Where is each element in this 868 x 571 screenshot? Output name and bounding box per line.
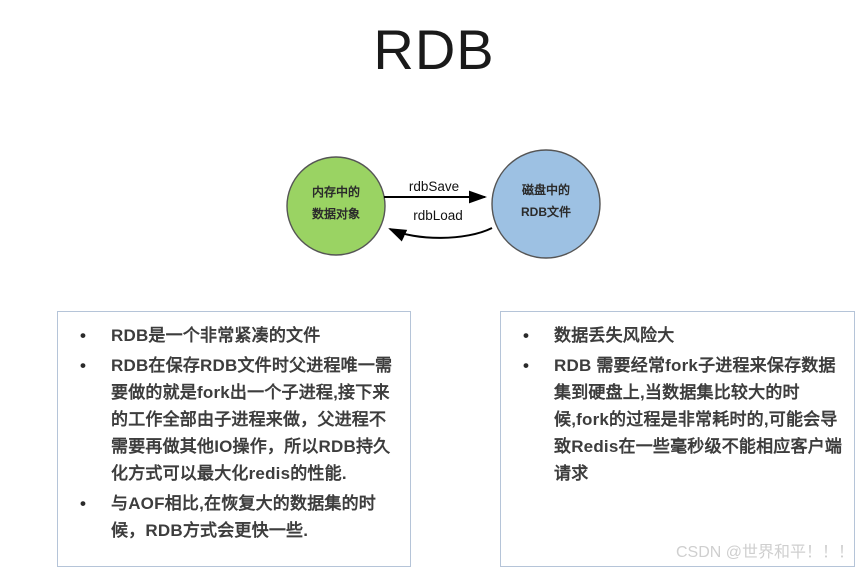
list-item-text: RDB 需要经常fork子进程来保存数据集到硬盘上,当数据集比较大的时候,for… (554, 356, 842, 483)
edge-rdb-load-label: rdbLoad (413, 208, 463, 223)
node-rdb-file-line2: RDB文件 (521, 204, 571, 219)
rdb-flow-diagram: 内存中的 数据对象 磁盘中的 RDB文件 rdbSave rdbLoad (270, 140, 620, 270)
bullet-icon: • (523, 352, 529, 379)
disadvantages-bullet-list: • 数据丢失风险大 • RDB 需要经常fork子进程来保存数据集到硬盘上,当数… (509, 322, 846, 487)
advantages-panel: • RDB是一个非常紧凑的文件 • RDB在保存RDB文件时父进程唯一需要做的就… (57, 311, 411, 567)
disadvantages-panel: • 数据丢失风险大 • RDB 需要经常fork子进程来保存数据集到硬盘上,当数… (500, 311, 855, 567)
bullet-icon: • (523, 322, 529, 349)
edge-rdb-load-arrow (390, 228, 492, 238)
edge-rdb-save-label: rdbSave (409, 179, 459, 194)
list-item: • RDB 需要经常fork子进程来保存数据集到硬盘上,当数据集比较大的时候,f… (509, 352, 846, 487)
csdn-watermark: CSDN @世界和平！！！ (676, 543, 854, 563)
list-item: • 数据丢失风险大 (509, 322, 846, 349)
list-item-text: RDB在保存RDB文件时父进程唯一需要做的就是fork出一个子进程,接下来的工作… (111, 356, 392, 483)
list-item: • RDB在保存RDB文件时父进程唯一需要做的就是fork出一个子进程,接下来的… (66, 352, 402, 487)
list-item: • 与AOF相比,在恢复大的数据集的时候，RDB方式会更快一些. (66, 490, 402, 544)
node-rdb-file-line1: 磁盘中的 (521, 182, 570, 197)
list-item-text: 与AOF相比,在恢复大的数据集的时候，RDB方式会更快一些. (111, 494, 376, 540)
bullet-icon: • (80, 490, 86, 517)
node-memory-object-line1: 内存中的 (312, 184, 360, 199)
node-rdb-file-circle (492, 150, 600, 258)
list-item-text: 数据丢失风险大 (554, 326, 674, 345)
list-item: • RDB是一个非常紧凑的文件 (66, 322, 402, 349)
bullet-icon: • (80, 352, 86, 379)
node-memory-object-line2: 数据对象 (312, 206, 360, 221)
bullet-icon: • (80, 322, 86, 349)
list-item-text: RDB是一个非常紧凑的文件 (111, 326, 320, 345)
node-memory-object-circle (287, 157, 385, 255)
advantages-bullet-list: • RDB是一个非常紧凑的文件 • RDB在保存RDB文件时父进程唯一需要做的就… (66, 322, 402, 544)
page-title: RDB (0, 18, 868, 82)
